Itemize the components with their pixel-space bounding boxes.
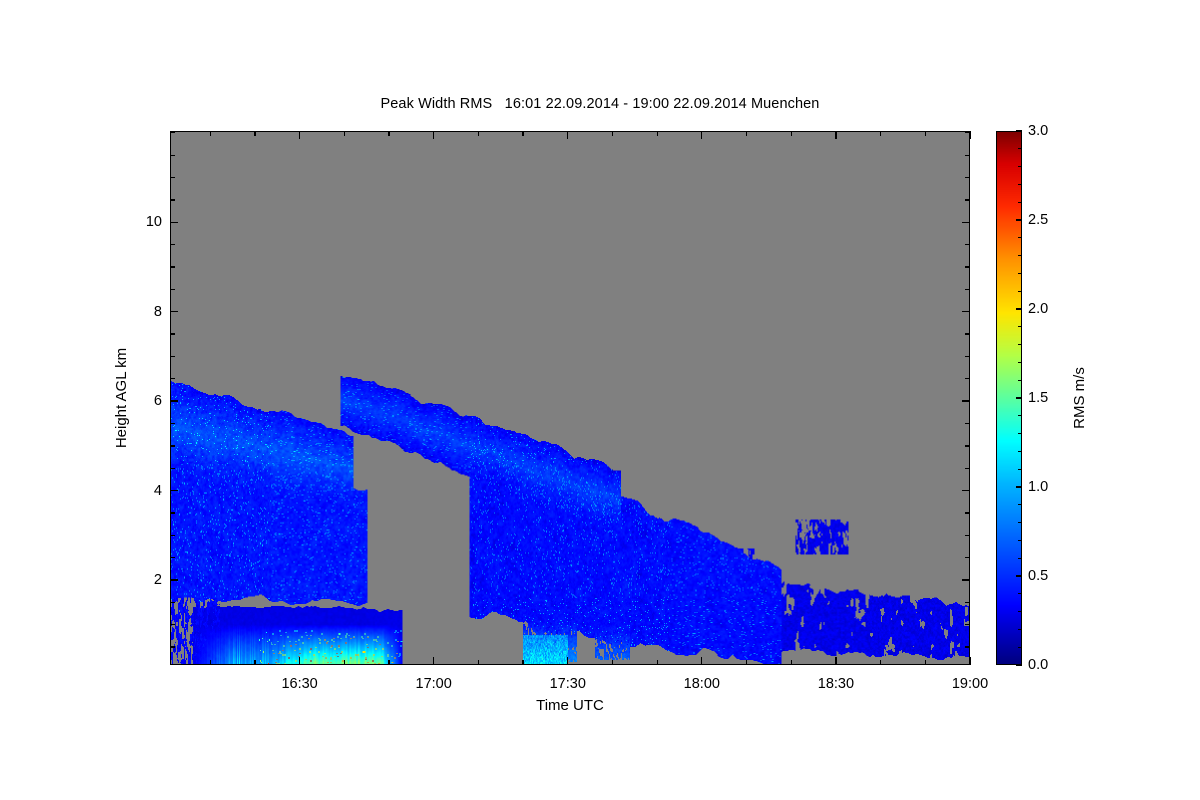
y-tick-minor: [170, 333, 175, 334]
colorbar-tick-minor: [1018, 344, 1022, 345]
y-tick-minor: [965, 199, 970, 200]
y-tick-minor: [170, 557, 175, 558]
x-tick-major: [299, 131, 300, 139]
colorbar-tick-minor: [1018, 326, 1022, 327]
colorbar-tick-minor: [1018, 362, 1022, 363]
colorbar-tick-label: 1.5: [1028, 390, 1048, 406]
y-tick-minor: [170, 646, 175, 647]
colorbar-tick-minor: [1018, 184, 1022, 185]
x-tick-minor: [210, 660, 211, 665]
y-tick-minor: [965, 333, 970, 334]
x-axis-label: Time UTC: [170, 697, 970, 714]
colorbar-tick-minor: [1018, 593, 1022, 594]
y-tick-minor: [965, 557, 970, 558]
colorbar-tick-major: [1016, 130, 1022, 131]
colorbar-tick-label: 2.0: [1028, 301, 1048, 317]
y-tick-label: 6: [138, 393, 162, 409]
x-tick-minor: [254, 131, 255, 136]
x-tick-minor: [925, 660, 926, 665]
x-tick-minor: [880, 660, 881, 665]
colorbar-tick-major: [1016, 219, 1022, 220]
x-tick-minor: [522, 660, 523, 665]
y-tick-minor: [170, 244, 175, 245]
x-tick-label: 16:30: [281, 676, 317, 692]
x-tick-minor: [254, 660, 255, 665]
colorbar-tick-minor: [1018, 291, 1022, 292]
y-tick-label: 10: [138, 214, 162, 230]
colorbar-tick-minor: [1018, 540, 1022, 541]
y-tick-major: [962, 490, 970, 491]
colorbar-tick-minor: [1018, 504, 1022, 505]
colorbar-label: RMS m/s: [1071, 367, 1088, 429]
y-tick-major: [962, 222, 970, 223]
y-tick-minor: [170, 423, 175, 424]
colorbar-tick-major: [1016, 397, 1022, 398]
y-tick-minor: [965, 356, 970, 357]
y-tick-minor: [170, 132, 175, 133]
y-tick-minor: [170, 177, 175, 178]
y-tick-minor: [965, 535, 970, 536]
colorbar-tick-minor: [1018, 558, 1022, 559]
figure-root: Peak Width RMS 16:01 22.09.2014 - 19:00 …: [0, 0, 1200, 800]
x-tick-label: 17:00: [416, 676, 452, 692]
x-tick-label: 17:30: [550, 676, 586, 692]
y-tick-minor: [965, 244, 970, 245]
colorbar-tick-minor: [1018, 380, 1022, 381]
x-tick-minor: [522, 131, 523, 136]
x-tick-minor: [746, 660, 747, 665]
y-tick-minor: [170, 535, 175, 536]
colorbar-tick-label: 3.0: [1028, 123, 1048, 139]
x-tick-minor: [657, 660, 658, 665]
y-tick-minor: [170, 199, 175, 200]
x-tick-minor: [478, 131, 479, 136]
colorbar-tick-minor: [1018, 415, 1022, 416]
y-tick-minor: [170, 378, 175, 379]
x-tick-minor: [925, 131, 926, 136]
y-tick-minor: [965, 378, 970, 379]
x-tick-label: 18:30: [818, 676, 854, 692]
y-tick-minor: [965, 624, 970, 625]
colorbar-tick-label: 1.0: [1028, 479, 1048, 495]
y-tick-minor: [965, 646, 970, 647]
y-tick-minor: [170, 155, 175, 156]
colorbar-tick-minor: [1018, 611, 1022, 612]
colorbar-tick-minor: [1018, 237, 1022, 238]
colorbar-tick-minor: [1018, 522, 1022, 523]
colorbar-tick-major: [1016, 664, 1022, 665]
colorbar-tick-minor: [1018, 647, 1022, 648]
y-tick-minor: [965, 423, 970, 424]
colorbar-tick-minor: [1018, 433, 1022, 434]
chart-title: Peak Width RMS 16:01 22.09.2014 - 19:00 …: [0, 96, 1200, 112]
y-tick-minor: [170, 356, 175, 357]
y-tick-label: 8: [138, 304, 162, 320]
x-tick-minor: [791, 660, 792, 665]
x-tick-minor: [344, 660, 345, 665]
colorbar-tick-minor: [1018, 629, 1022, 630]
x-tick-minor: [388, 660, 389, 665]
x-tick-minor: [478, 660, 479, 665]
x-tick-minor: [880, 131, 881, 136]
y-tick-minor: [170, 468, 175, 469]
colorbar-tick-major: [1016, 486, 1022, 487]
y-tick-minor: [965, 512, 970, 513]
y-tick-minor: [965, 445, 970, 446]
y-tick-minor: [170, 624, 175, 625]
heatmap-plot-area[interactable]: [170, 131, 970, 665]
y-tick-minor: [170, 266, 175, 267]
y-tick-minor: [170, 445, 175, 446]
x-tick-major: [433, 131, 434, 139]
y-tick-minor: [965, 155, 970, 156]
y-tick-major: [962, 579, 970, 580]
x-tick-minor: [657, 131, 658, 136]
y-tick-major: [170, 311, 178, 312]
x-tick-major: [701, 131, 702, 139]
x-tick-major: [567, 131, 568, 139]
y-tick-label: 4: [138, 483, 162, 499]
y-tick-major: [170, 222, 178, 223]
x-tick-major: [701, 657, 702, 665]
x-tick-major: [433, 657, 434, 665]
x-tick-minor: [388, 131, 389, 136]
y-tick-label: 2: [138, 572, 162, 588]
colorbar-tick-minor: [1018, 148, 1022, 149]
colorbar-tick-minor: [1018, 451, 1022, 452]
x-tick-minor: [746, 131, 747, 136]
x-tick-label: 19:00: [952, 676, 988, 692]
x-tick-minor: [612, 131, 613, 136]
y-tick-minor: [965, 289, 970, 290]
y-tick-major: [962, 311, 970, 312]
x-tick-major: [567, 657, 568, 665]
y-tick-minor: [965, 602, 970, 603]
heatmap-image: [171, 132, 969, 664]
y-tick-minor: [965, 177, 970, 178]
y-tick-major: [170, 400, 178, 401]
colorbar-tick-label: 0.5: [1028, 568, 1048, 584]
x-tick-label: 18:00: [684, 676, 720, 692]
y-tick-minor: [965, 266, 970, 267]
x-tick-minor: [791, 131, 792, 136]
colorbar-tick-minor: [1018, 273, 1022, 274]
colorbar-tick-major: [1016, 575, 1022, 576]
x-tick-major: [969, 657, 970, 665]
y-tick-minor: [170, 289, 175, 290]
colorbar-tick-minor: [1018, 202, 1022, 203]
x-tick-minor: [210, 131, 211, 136]
y-axis-label: Height AGL km: [113, 348, 130, 448]
y-tick-minor: [170, 602, 175, 603]
y-tick-major: [962, 400, 970, 401]
x-tick-minor: [612, 660, 613, 665]
x-tick-major: [299, 657, 300, 665]
colorbar-tick-major: [1016, 308, 1022, 309]
colorbar-tick-minor: [1018, 166, 1022, 167]
colorbar-tick-label: 2.5: [1028, 212, 1048, 228]
colorbar-tick-label: 0.0: [1028, 657, 1048, 673]
colorbar-tick-minor: [1018, 469, 1022, 470]
colorbar-tick-minor: [1018, 255, 1022, 256]
x-tick-minor: [344, 131, 345, 136]
y-tick-major: [170, 579, 178, 580]
x-tick-major: [835, 657, 836, 665]
y-tick-major: [170, 490, 178, 491]
x-tick-major: [835, 131, 836, 139]
y-tick-minor: [965, 468, 970, 469]
y-tick-minor: [965, 132, 970, 133]
y-tick-minor: [170, 512, 175, 513]
